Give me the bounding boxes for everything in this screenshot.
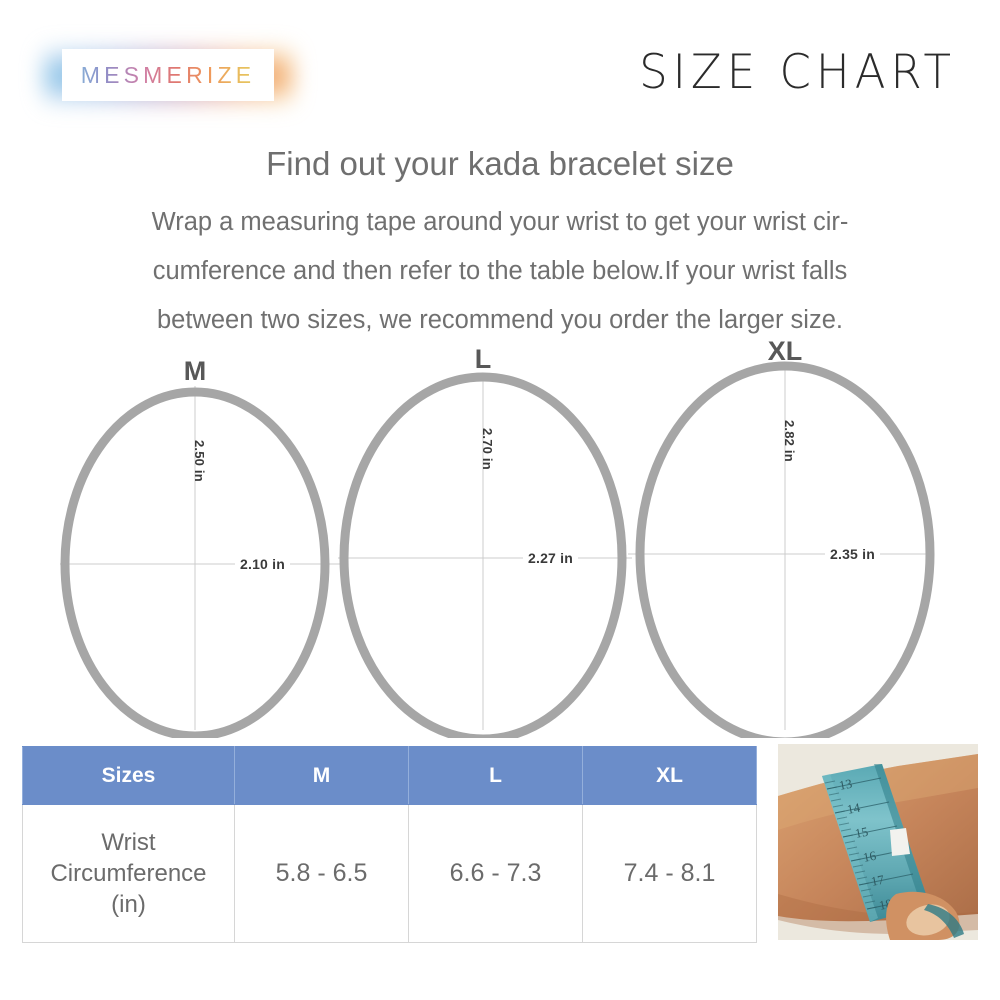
ring-width-label-l: 2.27 in [523, 550, 578, 566]
ring-width-label-m: 2.10 in [235, 556, 290, 572]
wrist-measuring-tape-photo: 13 14 15 16 17 18 [778, 744, 978, 940]
cell-m-range: 5.8 - 6.5 [235, 805, 409, 943]
intro-line: cumference and then refer to the table b… [48, 247, 952, 296]
ring-height-label-l: 2.70 in [480, 428, 495, 470]
ring-width-label-xl: 2.35 in [825, 546, 880, 562]
cell-xl-range: 7.4 - 8.1 [583, 805, 757, 943]
row-label-line: Circumference [50, 860, 206, 887]
table-header-sizes: Sizes [23, 747, 235, 805]
table-header-m: M [235, 747, 409, 805]
row-label-wrist-circumference: Wrist Circumference (in) [23, 805, 235, 943]
logo-wordmark: MESMERIZE [62, 49, 274, 101]
ring-label-m: M [184, 358, 207, 385]
row-label-line: (in) [111, 891, 146, 918]
row-label-line: Wrist [101, 829, 155, 856]
table-header-l: L [409, 747, 583, 805]
ring-height-label-xl: 2.82 in [782, 420, 797, 462]
ring-label-xl: XL [768, 338, 803, 365]
ring-shape-m [50, 348, 350, 738]
page-title: SIZE CHART [639, 44, 956, 100]
ring-height-label-m: 2.50 in [192, 440, 207, 482]
intro-line: Wrap a measuring tape around your wrist … [48, 198, 952, 247]
table-header: Sizes M L XL [23, 747, 757, 805]
brand-logo: MESMERIZE [44, 40, 292, 112]
ring-diagram-l: L 2.70 in 2.27 in [330, 348, 640, 738]
table-body: Wrist Circumference (in) 5.8 - 6.5 6.6 -… [23, 805, 757, 943]
size-chart-page: MESMERIZE SIZE CHART Find out your kada … [0, 0, 1000, 1000]
ring-diagram-xl: XL 2.82 in 2.35 in [620, 348, 940, 738]
subtitle: Find out your kada bracelet size [0, 145, 1000, 183]
ring-diagram-m: M 2.50 in 2.10 in [50, 348, 350, 738]
ring-shape-xl [620, 348, 940, 738]
table-header-row: Sizes M L XL [23, 747, 757, 805]
ring-diagrams: M 2.50 in 2.10 in L 2.70 in 2.27 in XL [0, 348, 1000, 738]
size-table: Sizes M L XL Wrist Circumference (in) 5.… [22, 746, 757, 943]
ring-shape-l [330, 348, 640, 738]
intro-line: between two sizes, we recommend you orde… [48, 296, 952, 345]
intro-paragraph: Wrap a measuring tape around your wrist … [48, 198, 952, 345]
table-header-xl: XL [583, 747, 757, 805]
ring-label-l: L [475, 346, 492, 373]
cell-l-range: 6.6 - 7.3 [409, 805, 583, 943]
table-row: Wrist Circumference (in) 5.8 - 6.5 6.6 -… [23, 805, 757, 943]
